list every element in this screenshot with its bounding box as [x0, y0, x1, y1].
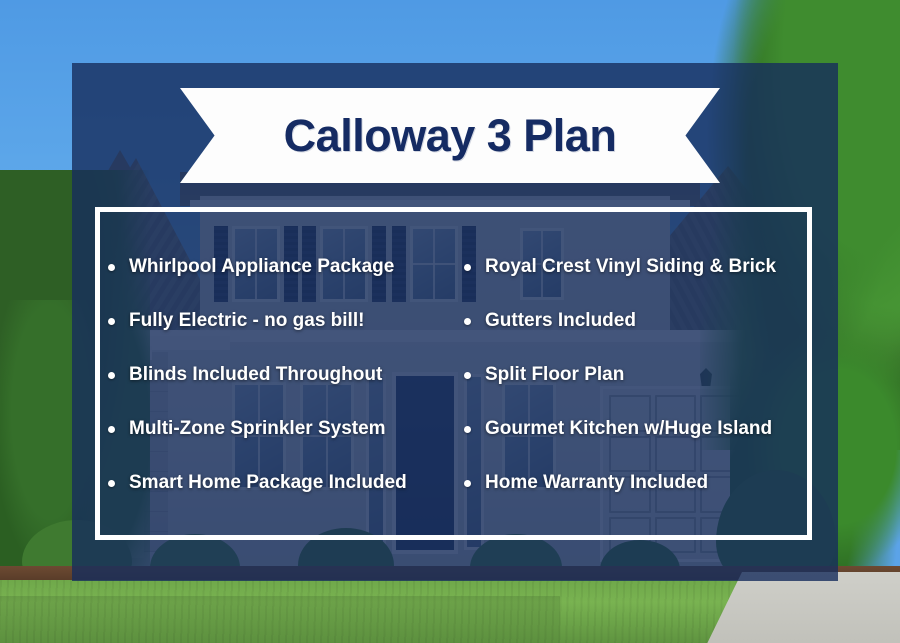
- feature-label: Gourmet Kitchen w/Huge Island: [485, 418, 772, 440]
- feature-label: Home Warranty Included: [485, 472, 708, 494]
- feature-label: Smart Home Package Included: [129, 472, 407, 494]
- bullet-dot-icon: [464, 426, 471, 433]
- bullet-dot-icon: [464, 318, 471, 325]
- feature-item-home-warranty-included: Home Warranty Included: [460, 472, 812, 494]
- feature-item-royal-crest-vinyl-siding-brick: Royal Crest Vinyl Siding & Brick: [460, 256, 812, 278]
- page-title: Calloway 3 Plan: [284, 110, 617, 162]
- bullet-dot-icon: [464, 372, 471, 379]
- bullet-dot-icon: [108, 318, 115, 325]
- feature-label: Royal Crest Vinyl Siding & Brick: [485, 256, 776, 278]
- bullet-dot-icon: [108, 264, 115, 271]
- feature-item-split-floor-plan: Split Floor Plan: [460, 364, 812, 386]
- feature-item-smart-home-package-included: Smart Home Package Included: [100, 472, 460, 494]
- feature-item-blinds-included-throughout: Blinds Included Throughout: [100, 364, 460, 386]
- bullet-dot-icon: [108, 372, 115, 379]
- marketing-graphic: Calloway 3 Plan Whirlpool Appliance Pack…: [0, 0, 900, 643]
- feature-label: Multi-Zone Sprinkler System: [129, 418, 386, 440]
- lawn-shadow: [0, 596, 560, 643]
- bullet-dot-icon: [464, 264, 471, 271]
- bullet-dot-icon: [108, 426, 115, 433]
- bullet-dot-icon: [108, 480, 115, 487]
- feature-label: Whirlpool Appliance Package: [129, 256, 394, 278]
- feature-item-whirlpool-appliance-package: Whirlpool Appliance Package: [100, 256, 460, 278]
- features-list: Whirlpool Appliance Package Royal Crest …: [100, 240, 812, 530]
- feature-item-multi-zone-sprinkler-system: Multi-Zone Sprinkler System: [100, 418, 460, 440]
- feature-item-gutters-included: Gutters Included: [460, 310, 812, 332]
- feature-item-gourmet-kitchen-huge-island: Gourmet Kitchen w/Huge Island: [460, 418, 812, 440]
- feature-label: Blinds Included Throughout: [129, 364, 382, 386]
- feature-label: Gutters Included: [485, 310, 636, 332]
- title-ribbon: Calloway 3 Plan: [180, 88, 720, 183]
- bullet-dot-icon: [464, 480, 471, 487]
- feature-label: Split Floor Plan: [485, 364, 624, 386]
- feature-label: Fully Electric - no gas bill!: [129, 310, 364, 332]
- feature-item-fully-electric: Fully Electric - no gas bill!: [100, 310, 460, 332]
